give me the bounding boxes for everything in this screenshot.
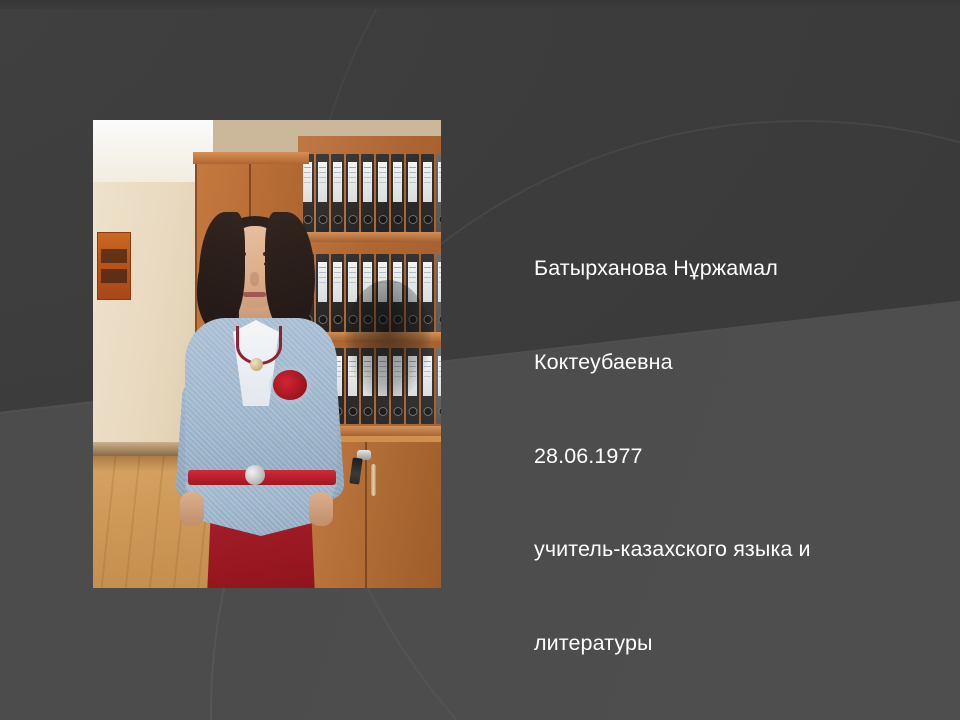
photo-person-belt-buckle (245, 465, 265, 485)
slide-text-block: Батырханова Нұржамал Коктеубаевна 28.06.… (534, 191, 934, 720)
photo-person-pendant (250, 358, 263, 371)
poster-row (101, 269, 127, 283)
background-top-strip (0, 0, 960, 9)
photo-wall-poster (97, 232, 131, 300)
photo-person-left-hand (180, 492, 204, 526)
photo-cabinet-door-seam (365, 442, 367, 588)
photo-cabinet-handle (371, 464, 376, 496)
portrait-photo[interactable] (93, 120, 441, 588)
text-line-birthdate: 28.06.1977 (534, 441, 934, 472)
poster-row (101, 249, 127, 263)
photo-glass-reflection (345, 280, 431, 400)
photo-person-right-hand (309, 492, 333, 526)
photo-person-mouth (243, 292, 266, 297)
text-line-position-2: литературы (534, 628, 934, 659)
text-line-name-1: Батырханова Нұржамал (534, 253, 934, 284)
photo-person-nose (250, 272, 259, 286)
photo-wardrobe-top (193, 152, 309, 164)
presentation-slide: Батырханова Нұржамал Коктеубаевна 28.06.… (0, 0, 960, 720)
text-line-name-2: Коктеубаевна (534, 347, 934, 378)
photo-person-brooch (273, 370, 307, 400)
text-line-position-1: учитель-казахского языка и (534, 534, 934, 565)
